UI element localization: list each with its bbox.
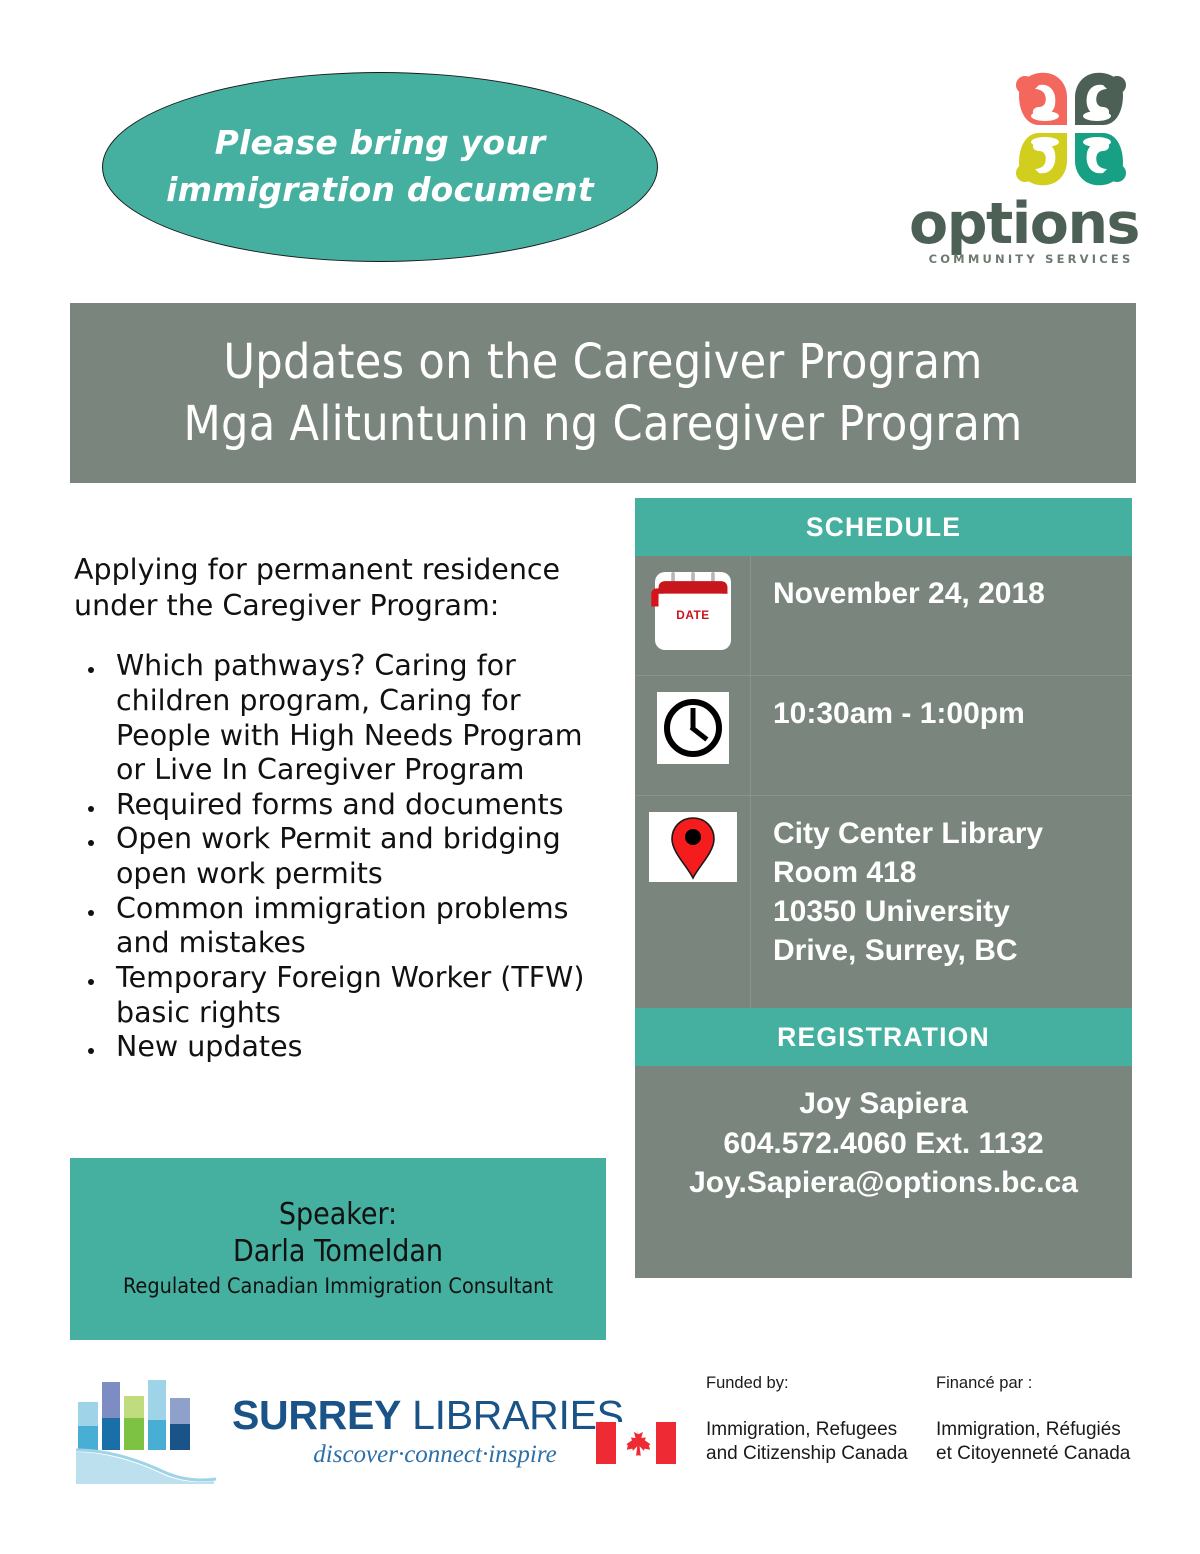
registration-heading: REGISTRATION <box>635 1008 1132 1066</box>
options-wordmark-text: options <box>900 198 1148 250</box>
registration-email[interactable]: Joy.Sapiera@options.bc.ca <box>645 1163 1122 1203</box>
poster-root: Please bring your immigration document <box>0 0 1200 1554</box>
registration-details: Joy Sapiera 604.572.4060 Ext. 1132 Joy.S… <box>635 1066 1132 1278</box>
calendar-icon: DATE <box>655 572 731 650</box>
surrey-libraries-mark-icon <box>72 1374 222 1484</box>
list-item: Open work Permit and bridging open work … <box>74 822 614 891</box>
options-wordmark: options COMMUNITY SERVICES <box>900 198 1148 266</box>
svg-text:DATE: DATE <box>676 609 709 622</box>
intro-line-1: Applying for permanent residence <box>74 552 614 588</box>
funding-block: Funded by: Financé par : Immigration, Re… <box>588 1366 1168 1506</box>
surrey-libraries-tagline: discover·connect·inspire <box>258 1441 612 1469</box>
options-pinwheel-icon <box>1005 63 1137 195</box>
clock-icon <box>657 692 729 764</box>
time-icon-cell <box>635 676 751 795</box>
location-line-2: Room 418 <box>773 853 1124 892</box>
funded-by-label-en: Funded by: <box>706 1374 789 1393</box>
canada-flag-icon <box>596 1422 676 1464</box>
location-line-1: City Center Library <box>773 814 1124 853</box>
poster-footer: SURREY LIBRARIES discover·connect·inspir… <box>0 1352 1200 1542</box>
bring-document-callout: Please bring your immigration document <box>102 72 658 262</box>
map-pin-icon <box>649 812 737 882</box>
funding-department-en-line1: Immigration, Refugees <box>706 1418 926 1442</box>
location-line-4: Drive, Surrey, BC <box>773 931 1124 970</box>
time-value: 10:30am - 1:00pm <box>751 676 1132 749</box>
date-icon-cell: DATE <box>635 556 751 675</box>
location-value: City Center Library Room 418 10350 Unive… <box>751 796 1132 986</box>
schedule-row-date: DATE November 24, 2018 <box>635 556 1132 676</box>
title-line-tagalog: Mga Alituntunin ng Caregiver Program <box>183 393 1022 455</box>
options-community-services-logo: options COMMUNITY SERVICES <box>900 58 1148 258</box>
location-icon-cell <box>635 796 751 1008</box>
schedule-row-location: City Center Library Room 418 10350 Unive… <box>635 796 1132 1008</box>
speaker-label: Speaker: <box>279 1197 397 1234</box>
funding-department-fr-line1: Immigration, Réfugiés <box>936 1418 1156 1442</box>
registration-phone[interactable]: 604.572.4060 Ext. 1132 <box>645 1124 1122 1164</box>
callout-line-1: Please bring your <box>215 120 546 167</box>
surrey-word: SURREY <box>232 1392 401 1438</box>
title-line-english: Updates on the Caregiver Program <box>223 331 982 393</box>
list-item: Required forms and documents <box>74 788 614 823</box>
speaker-box: Speaker: Darla Tomeldan Regulated Canadi… <box>70 1158 606 1340</box>
speaker-name: Darla Tomeldan <box>233 1234 443 1271</box>
intro-line-2: under the Caregiver Program: <box>74 588 614 624</box>
callout-line-2: immigration document <box>166 167 594 214</box>
intro-paragraph: Applying for permanent residence under t… <box>74 552 614 623</box>
date-value: November 24, 2018 <box>751 556 1132 629</box>
schedule-registration-panel: SCHEDULE DATE November 24, 2 <box>635 498 1132 1308</box>
funding-department-fr-line2: et Citoyenneté Canada <box>936 1442 1156 1466</box>
location-line-3: 10350 University <box>773 892 1124 931</box>
topics-bullet-list: Which pathways? Caring for children prog… <box>74 649 614 1065</box>
funded-by-label-fr: Financé par : <box>936 1374 1032 1393</box>
schedule-rows: DATE November 24, 2018 10:30am - 1:00pm <box>635 556 1132 1008</box>
surrey-libraries-wordmark: SURREY LIBRARIES discover·connect·inspir… <box>232 1392 612 1469</box>
topics-column: Applying for permanent residence under t… <box>74 552 614 1065</box>
list-item: Which pathways? Caring for children prog… <box>74 649 614 788</box>
funding-department-en-line2: and Citizenship Canada <box>706 1442 926 1466</box>
schedule-heading: SCHEDULE <box>635 498 1132 556</box>
poster-title-banner: Updates on the Caregiver Program Mga Ali… <box>70 303 1136 483</box>
registration-contact-name: Joy Sapiera <box>645 1084 1122 1124</box>
surrey-libraries-name: SURREY LIBRARIES <box>232 1392 612 1439</box>
funding-department-en: Immigration, Refugees and Citizenship Ca… <box>706 1418 926 1466</box>
funding-department-fr: Immigration, Réfugiés et Citoyenneté Can… <box>936 1418 1156 1466</box>
options-tagline-text: COMMUNITY SERVICES <box>914 252 1148 266</box>
list-item: New updates <box>74 1030 614 1065</box>
list-item: Common immigration problems and mistakes <box>74 892 614 961</box>
surrey-libraries-logo: SURREY LIBRARIES discover·connect·inspir… <box>72 1374 542 1494</box>
schedule-row-time: 10:30am - 1:00pm <box>635 676 1132 796</box>
list-item: Temporary Foreign Worker (TFW) basic rig… <box>74 961 614 1030</box>
speaker-credential: Regulated Canadian Immigration Consultan… <box>123 1274 553 1301</box>
